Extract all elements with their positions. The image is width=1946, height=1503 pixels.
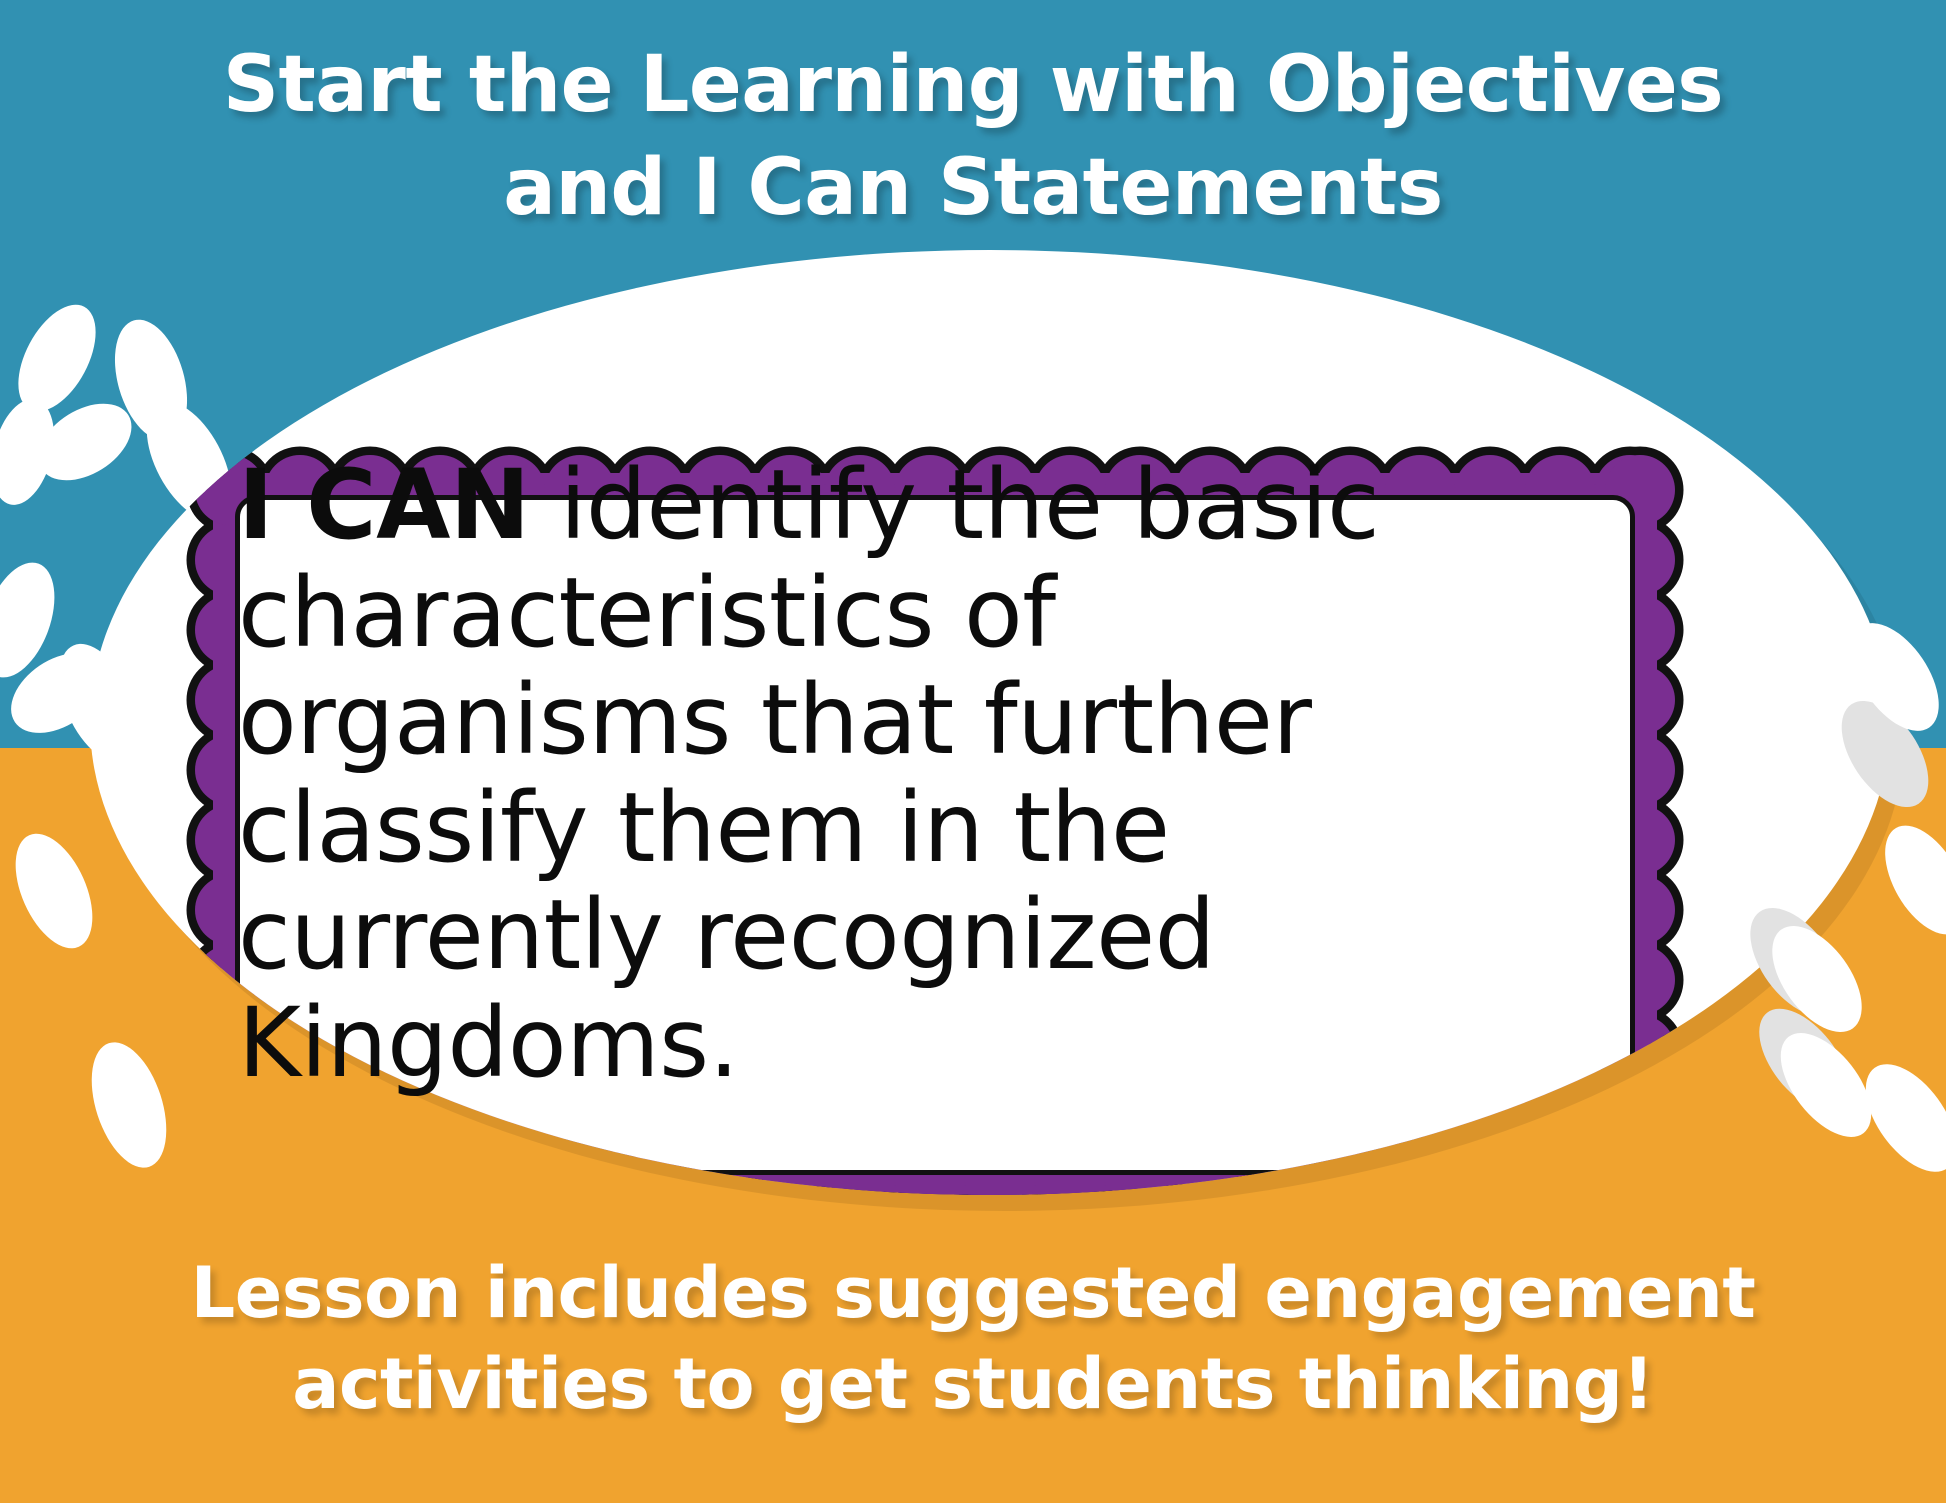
page-title: Start the Learning with Objectives and I…	[0, 34, 1946, 240]
card-inner-panel	[235, 495, 1635, 1175]
footer-note: Lesson includes suggested engagement act…	[0, 1248, 1946, 1430]
slide-canvas: I CAN identify the basic characteristics…	[0, 0, 1946, 1503]
page-title-line-2: and I Can Statements	[0, 137, 1946, 240]
i-can-card	[195, 455, 1675, 1195]
footer-note-line-1: Lesson includes suggested engagement	[0, 1248, 1946, 1339]
card-clip-region	[90, 250, 1890, 1195]
footer-note-line-2: activities to get students thinking!	[0, 1339, 1946, 1430]
page-title-line-1: Start the Learning with Objectives	[0, 34, 1946, 137]
